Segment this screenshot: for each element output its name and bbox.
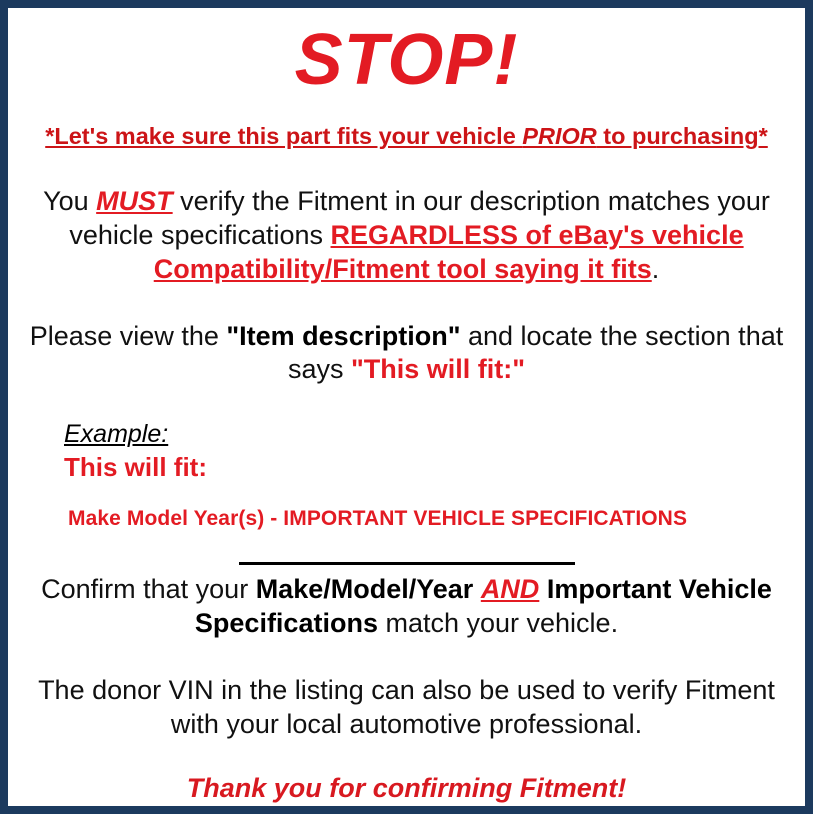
p3-emphasis-make-model-year: Make/Model/Year xyxy=(256,574,474,604)
p1-emphasis-must: MUST xyxy=(96,186,173,216)
p1-seg-5: . xyxy=(652,254,660,284)
notice-content: STOP! *Let's make sure this part fits yo… xyxy=(8,8,805,806)
p3-seg-3 xyxy=(473,574,481,604)
p2-emphasis-this-will-fit: "This will fit:" xyxy=(351,354,525,384)
example-fit-heading: This will fit: xyxy=(64,449,795,484)
subtitle-text-before: *Let's make sure this part fits your veh… xyxy=(45,123,522,149)
p3-emphasis-and: AND xyxy=(481,574,540,604)
p2-seg-1: Please view the xyxy=(30,321,227,351)
p3-seg-1: Confirm that your xyxy=(41,574,256,604)
paragraph-item-description: Please view the "Item description" and l… xyxy=(22,287,792,388)
p3-seg-5 xyxy=(539,574,547,604)
p2-emphasis-item-description: "Item description" xyxy=(226,321,460,351)
p3-seg-7: match your vehicle. xyxy=(378,608,618,638)
example-block: Example: This will fit: Make Model Year(… xyxy=(18,387,795,531)
paragraph-donor-vin: The donor VIN in the listing can also be… xyxy=(22,640,792,742)
subtitle-emphasis-prior: PRIOR xyxy=(522,123,596,149)
subtitle-banner: *Let's make sure this part fits your veh… xyxy=(18,96,795,151)
example-spec-line: Make Model Year(s) - IMPORTANT VEHICLE S… xyxy=(64,484,795,531)
section-divider xyxy=(239,562,575,565)
example-label: Example: xyxy=(64,419,795,449)
p1-seg-1: You xyxy=(43,186,96,216)
page-title: STOP! xyxy=(18,8,795,96)
fitment-notice-card: STOP! *Let's make sure this part fits yo… xyxy=(0,0,813,814)
closing-thank-you: Thank you for confirming Fitment! xyxy=(18,742,795,806)
paragraph-confirm-match: Confirm that your Make/Model/Year AND Im… xyxy=(22,573,792,641)
subtitle-text-after: to purchasing* xyxy=(597,123,768,149)
divider-wrapper xyxy=(18,531,795,573)
paragraph-verify-fitment: You MUST verify the Fitment in our descr… xyxy=(22,151,792,286)
